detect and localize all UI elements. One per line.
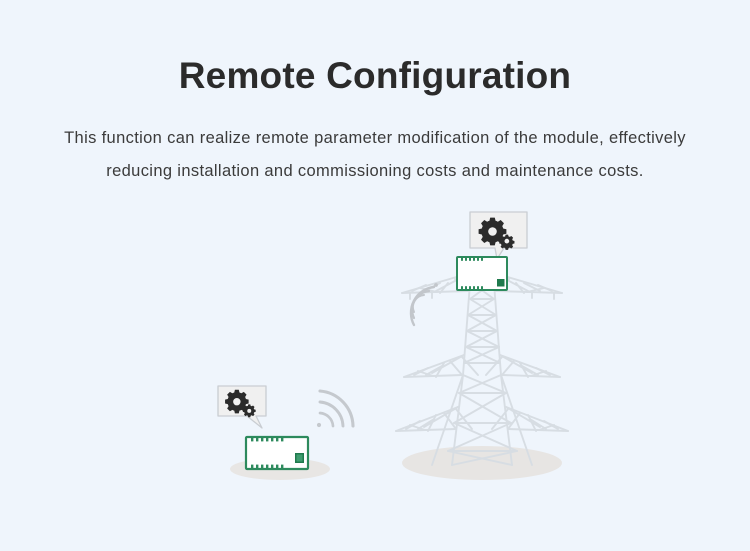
gear-icon-small-top <box>499 235 514 250</box>
page-title: Remote Configuration <box>0 56 750 97</box>
page-description: This function can realize remote paramet… <box>0 122 750 188</box>
page-description-line-2: reducing installation and commissioning … <box>0 155 750 188</box>
gear-settings-bubble-top <box>470 212 527 259</box>
gear-settings-bubble-bottom <box>218 386 266 428</box>
transmission-tower <box>396 270 568 465</box>
page-description-line-1: This function can realize remote paramet… <box>0 122 750 155</box>
page-root: Remote Configuration This function can r… <box>0 0 750 551</box>
signal-waves-right <box>317 391 353 427</box>
remote-configuration-illustration <box>0 195 750 495</box>
gear-icon-small-bottom <box>243 404 256 417</box>
radio-module-on-tower <box>457 257 507 290</box>
radio-module-on-ground <box>246 437 308 469</box>
